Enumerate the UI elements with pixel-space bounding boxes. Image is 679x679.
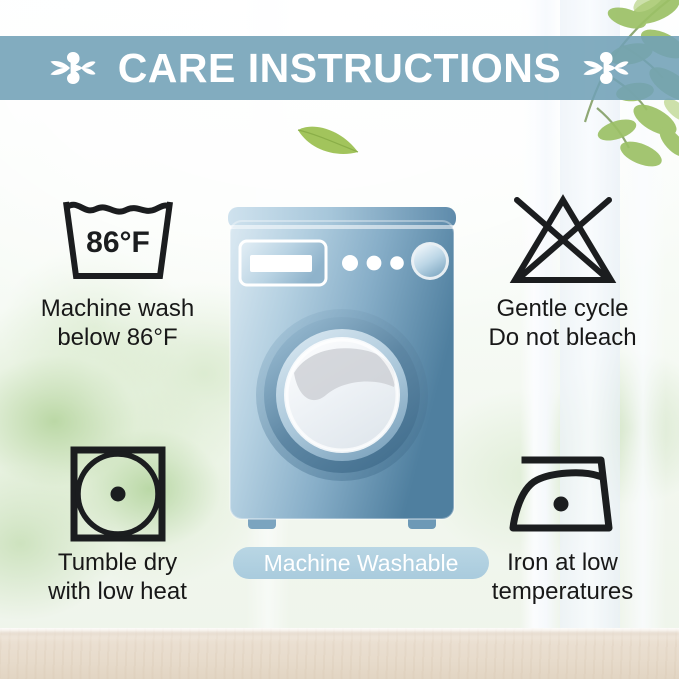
control-dot bbox=[390, 256, 404, 270]
care-instructions-infographic: CARE INSTRUCTIONS 86°F Machine wash belo… bbox=[0, 0, 679, 679]
no-bleach-triangle-icon bbox=[503, 190, 623, 290]
washing-machine-illustration bbox=[222, 205, 462, 535]
control-dot bbox=[367, 256, 382, 271]
symbol-container: 86°F bbox=[10, 186, 225, 294]
symbol-container bbox=[455, 440, 670, 548]
wash-tub-icon: 86°F bbox=[56, 190, 180, 290]
care-caption: Machine wash below 86°F bbox=[10, 294, 225, 353]
tumble-dry-low-icon bbox=[66, 442, 170, 546]
drawer-slot bbox=[250, 255, 312, 272]
header-banner: CARE INSTRUCTIONS bbox=[0, 36, 679, 100]
care-item-tumble-dry: Tumble dry with low heat bbox=[10, 440, 225, 607]
fleur-de-lis-icon bbox=[583, 48, 629, 88]
care-item-machine-wash: 86°F Machine wash below 86°F bbox=[10, 186, 225, 353]
badge-label: Machine Washable bbox=[264, 552, 459, 575]
symbol-container bbox=[10, 440, 225, 548]
care-caption: Gentle cycle Do not bleach bbox=[455, 294, 670, 353]
wash-temperature-label: 86°F bbox=[86, 226, 150, 259]
care-item-iron-low: Iron at low temperatures bbox=[455, 440, 670, 607]
care-caption: Tumble dry with low heat bbox=[10, 548, 225, 607]
care-item-gentle-cycle-no-bleach: Gentle cycle Do not bleach bbox=[455, 186, 670, 353]
control-dial bbox=[414, 245, 446, 277]
floating-leaf-icon bbox=[296, 118, 360, 158]
page-title: CARE INSTRUCTIONS bbox=[118, 48, 562, 89]
fleur-de-lis-icon bbox=[50, 48, 96, 88]
iron-low-icon bbox=[503, 446, 623, 542]
table-edge bbox=[0, 632, 679, 636]
symbol-container bbox=[455, 186, 670, 294]
machine-washable-badge: Machine Washable bbox=[233, 547, 489, 579]
control-dot bbox=[342, 255, 358, 271]
